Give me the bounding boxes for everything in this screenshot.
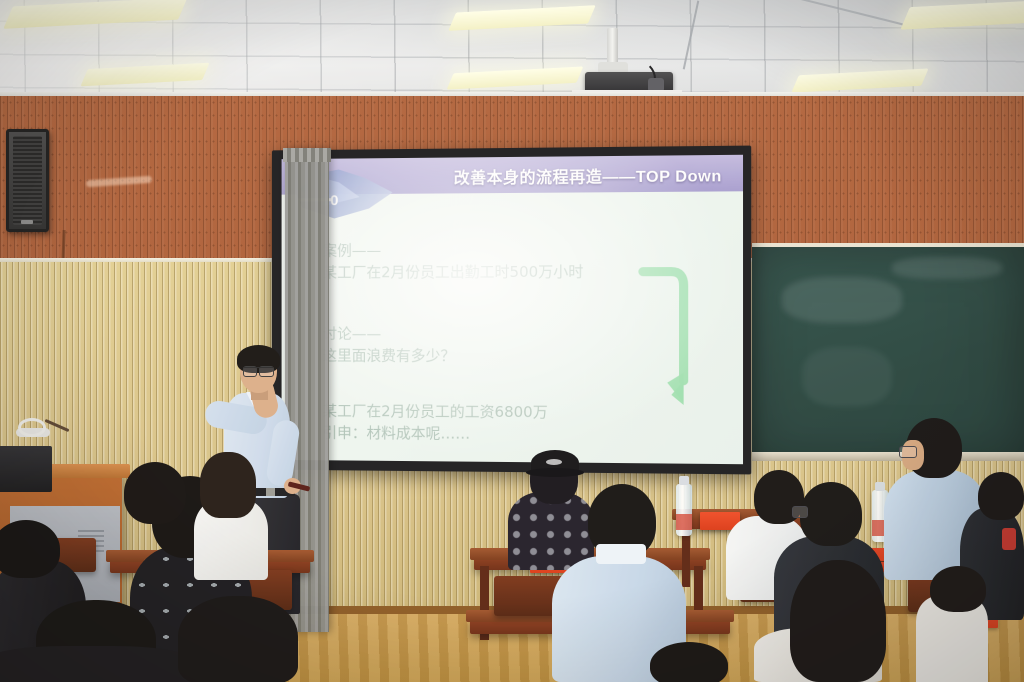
podium-monitor [0, 446, 52, 492]
blackboard-chalk-tray [752, 452, 1024, 461]
speaker-grill [13, 136, 42, 225]
chalk-smudge [782, 277, 902, 323]
projection-screen[interactable]: 0 改善本身的流程再造——TOP Down 案例—— 某工厂在2月份员工出勤工时… [272, 146, 751, 475]
attendee-hair [200, 452, 256, 518]
blackboard [752, 243, 1024, 460]
desk-leg [682, 527, 690, 587]
attendee-glasses-icon [899, 446, 917, 458]
attendee-hair [930, 566, 986, 612]
speaker-logo [21, 220, 33, 224]
attendee-torso [0, 646, 194, 682]
attendee-hair [650, 642, 728, 682]
classroom-scene: 0 改善本身的流程再造——TOP Down 案例—— 某工厂在2月份员工出勤工时… [0, 0, 1024, 682]
water-bottle [676, 484, 692, 536]
bottle-cap [679, 476, 689, 485]
presenter-belt-buckle [266, 488, 275, 496]
attendee-hair [0, 520, 60, 578]
attendee-glasses-icon [792, 506, 808, 518]
presenter-glasses-bridge [243, 367, 273, 376]
attendee-collar [596, 544, 646, 564]
chalk-smudge [892, 257, 1002, 279]
podium-lamp-icon [18, 418, 46, 437]
curtain-rail [283, 148, 331, 162]
screen-projector-glow [282, 155, 743, 464]
cap-brim [526, 468, 584, 477]
attendee-hair [978, 472, 1024, 520]
cap-logo-icon [546, 459, 562, 465]
attendee-hair [178, 596, 298, 682]
slide-surface: 0 改善本身的流程再造——TOP Down 案例—— 某工厂在2月份员工出勤工时… [282, 155, 743, 464]
wall-speaker [6, 129, 49, 232]
attendee-shirt-accent [1002, 528, 1016, 550]
chalk-smudge [802, 347, 892, 407]
attendee-hair [790, 560, 886, 682]
attendee-hair [800, 482, 862, 546]
attendee-hair [124, 462, 186, 524]
bottle-cap [875, 482, 885, 491]
bottle-label [676, 514, 692, 530]
